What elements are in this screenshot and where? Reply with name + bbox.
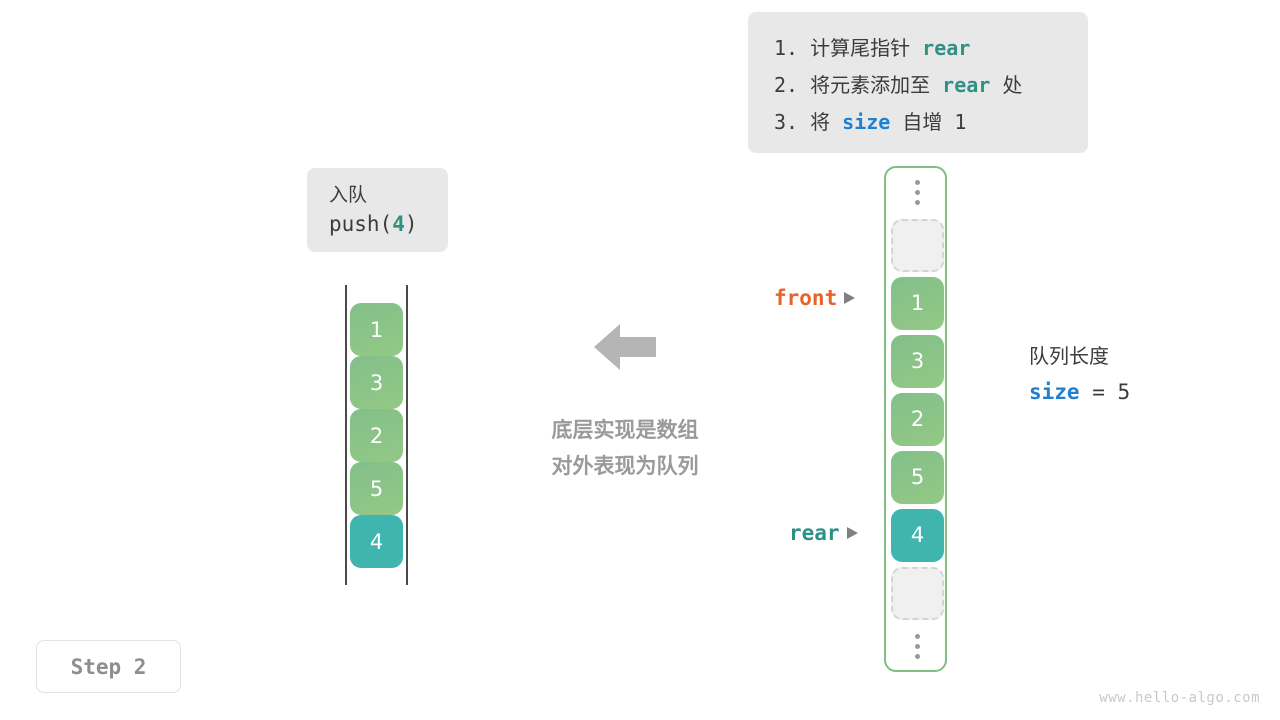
array-underlying-view: 1 3 2 5 4: [884, 166, 947, 672]
caption-line-1: 底层实现是数组: [527, 412, 723, 448]
instruction-1-prefix: 1. 计算尾指针: [774, 36, 922, 60]
queue-rail-left: [345, 285, 347, 585]
array-slot: 5: [889, 448, 946, 506]
instruction-3-suffix: 自增 1: [890, 110, 966, 134]
array-slot-list: 1 3 2 5 4: [889, 168, 946, 670]
instruction-line-2: 2. 将元素添加至 rear 处: [774, 67, 1062, 104]
instruction-line-1: 1. 计算尾指针 rear: [774, 30, 1062, 67]
array-cell-empty: [891, 567, 944, 620]
instruction-3-prefix: 3. 将: [774, 110, 842, 134]
front-pointer: front: [774, 286, 855, 310]
array-slot: 2: [889, 390, 946, 448]
queue-cell-new: 4: [350, 515, 403, 568]
queue-abstract-view: 1 3 2 5 4: [345, 285, 408, 585]
array-slot: [889, 564, 946, 622]
array-slot: 4: [889, 506, 946, 564]
push-call-value: 4: [392, 212, 405, 236]
arrow-right-small-icon: [847, 527, 858, 539]
array-cell: 1: [891, 277, 944, 330]
push-title: 入队: [329, 181, 448, 209]
rear-pointer-label: rear: [789, 521, 840, 545]
rear-pointer: rear: [789, 521, 858, 545]
instruction-panel: 1. 计算尾指针 rear 2. 将元素添加至 rear 处 3. 将 size…: [748, 12, 1088, 153]
array-cell: 3: [891, 335, 944, 388]
array-cell: 5: [891, 451, 944, 504]
queue-cell: 2: [350, 409, 403, 462]
size-note-expression: size = 5: [1029, 375, 1229, 409]
size-variable: size: [1029, 380, 1080, 404]
queue-cell: 3: [350, 356, 403, 409]
push-call-prefix: push(: [329, 212, 392, 236]
front-pointer-label: front: [774, 286, 837, 310]
caption-line-2: 对外表现为队列: [527, 448, 723, 484]
size-note-title: 队列长度: [1029, 341, 1229, 371]
push-call-suffix: ): [405, 212, 418, 236]
vertical-ellipsis-bottom-icon: [889, 622, 946, 670]
vertical-ellipsis-top-icon: [889, 168, 946, 216]
size-equals: =: [1080, 380, 1118, 404]
instruction-2-keyword: rear: [942, 73, 990, 97]
instruction-3-keyword: size: [842, 110, 890, 134]
queue-cell-list: 1 3 2 5 4: [350, 303, 403, 568]
instruction-line-3: 3. 将 size 自增 1: [774, 104, 1062, 141]
arrow-right-small-icon: [844, 292, 855, 304]
instruction-1-keyword: rear: [922, 36, 970, 60]
arrow-left-icon: [594, 322, 656, 372]
instruction-2-suffix: 处: [990, 73, 1022, 97]
step-badge: Step 2: [36, 640, 181, 693]
size-value: 5: [1118, 380, 1131, 404]
push-operation-label: 入队 push(4): [307, 168, 448, 252]
queue-cell: 1: [350, 303, 403, 356]
step-badge-label: Step 2: [71, 655, 147, 679]
array-cell-empty: [891, 219, 944, 272]
queue-cell: 5: [350, 462, 403, 515]
array-slot: 3: [889, 332, 946, 390]
instruction-2-prefix: 2. 将元素添加至: [774, 73, 942, 97]
array-cell: 2: [891, 393, 944, 446]
watermark: www.hello-algo.com: [1099, 690, 1260, 706]
center-caption: 底层实现是数组 对外表现为队列: [527, 412, 723, 484]
push-call: push(4): [329, 209, 448, 239]
array-cell-new: 4: [891, 509, 944, 562]
array-slot: 1: [889, 274, 946, 332]
size-note: 队列长度 size = 5: [1029, 341, 1229, 409]
diagram-canvas: 1. 计算尾指针 rear 2. 将元素添加至 rear 处 3. 将 size…: [0, 0, 1280, 720]
array-slot: [889, 216, 946, 274]
queue-rail-right: [406, 285, 408, 585]
